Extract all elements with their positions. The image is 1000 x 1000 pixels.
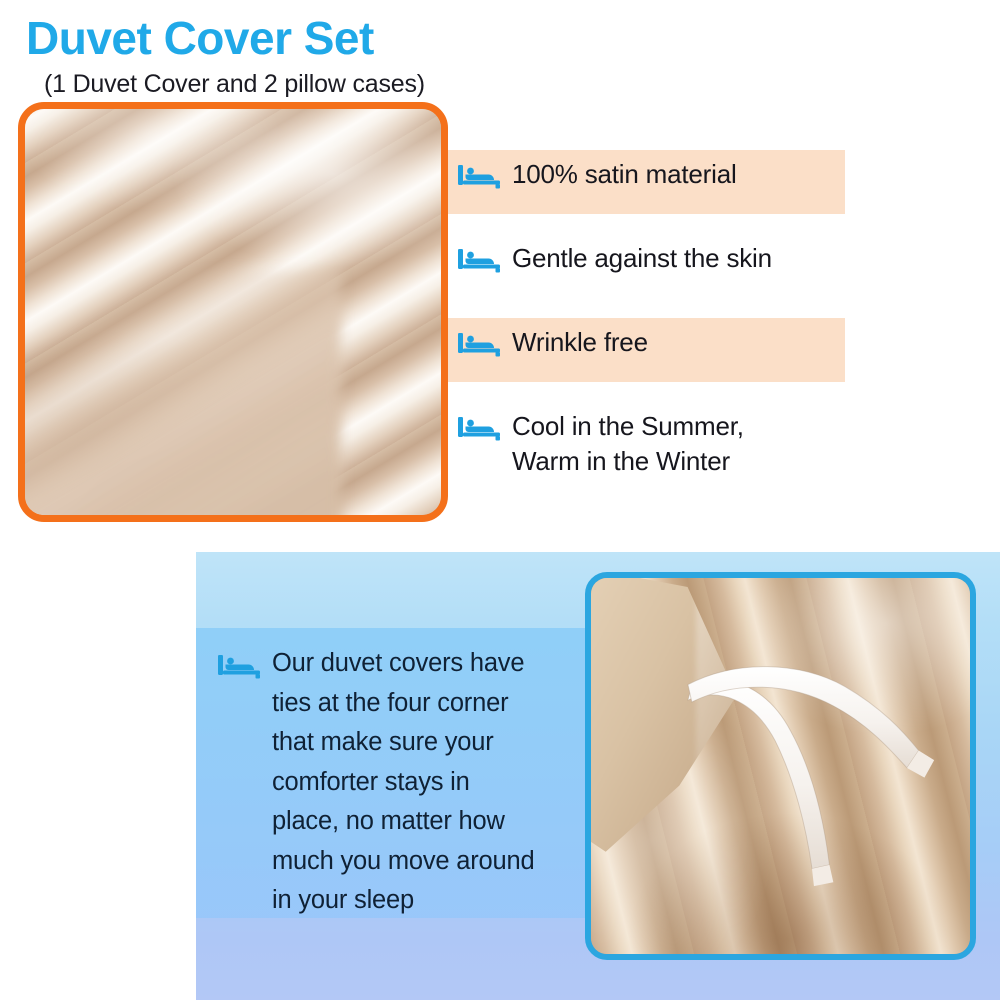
feature-label-line1: Cool in the Summer, bbox=[512, 411, 744, 441]
feature-list: 100% satin material Gentle against the s… bbox=[448, 150, 868, 505]
feature-item: 100% satin material bbox=[448, 150, 845, 214]
page-subtitle: (1 Duvet Cover and 2 pillow cases) bbox=[44, 70, 425, 99]
paragraph-line: that make sure your bbox=[272, 723, 534, 763]
paragraph-line: ties at the four corner bbox=[272, 684, 534, 724]
bed-icon bbox=[458, 331, 500, 357]
bed-icon bbox=[458, 163, 500, 189]
feature-label-line2: Warm in the Winter bbox=[512, 444, 744, 479]
bed-icon bbox=[458, 247, 500, 273]
page-title: Duvet Cover Set bbox=[26, 14, 374, 62]
feature-item: Cool in the Summer,Warm in the Winter bbox=[448, 402, 868, 485]
tie-feature-panel: Our duvet covers have ties at the four c… bbox=[196, 552, 1000, 1000]
paragraph-line: much you move around bbox=[272, 842, 534, 882]
tie-description: Our duvet covers have ties at the four c… bbox=[218, 644, 590, 921]
paragraph-line: place, no matter how bbox=[272, 802, 534, 842]
satin-fabric-photo bbox=[18, 102, 448, 522]
paragraph-line: comforter stays in bbox=[272, 763, 534, 803]
feature-label: 100% satin material bbox=[512, 157, 743, 192]
satin-texture bbox=[25, 109, 441, 515]
paragraph-line: in your sleep bbox=[272, 881, 534, 921]
feature-label: Gentle against the skin bbox=[512, 241, 778, 276]
feature-item: Gentle against the skin bbox=[448, 234, 868, 298]
white-ribbon-ties bbox=[591, 578, 970, 954]
tie-description-text: Our duvet covers have ties at the four c… bbox=[272, 644, 534, 921]
feature-item: Wrinkle free bbox=[448, 318, 845, 382]
duvet-tie-photo bbox=[585, 572, 976, 960]
feature-label: Wrinkle free bbox=[512, 325, 654, 360]
feature-label-multiline: Cool in the Summer,Warm in the Winter bbox=[512, 409, 750, 478]
bed-icon bbox=[218, 653, 260, 679]
infographic-canvas: Duvet Cover Set (1 Duvet Cover and 2 pil… bbox=[0, 0, 1000, 1000]
paragraph-line: Our duvet covers have bbox=[272, 644, 534, 684]
bed-icon bbox=[458, 415, 500, 441]
